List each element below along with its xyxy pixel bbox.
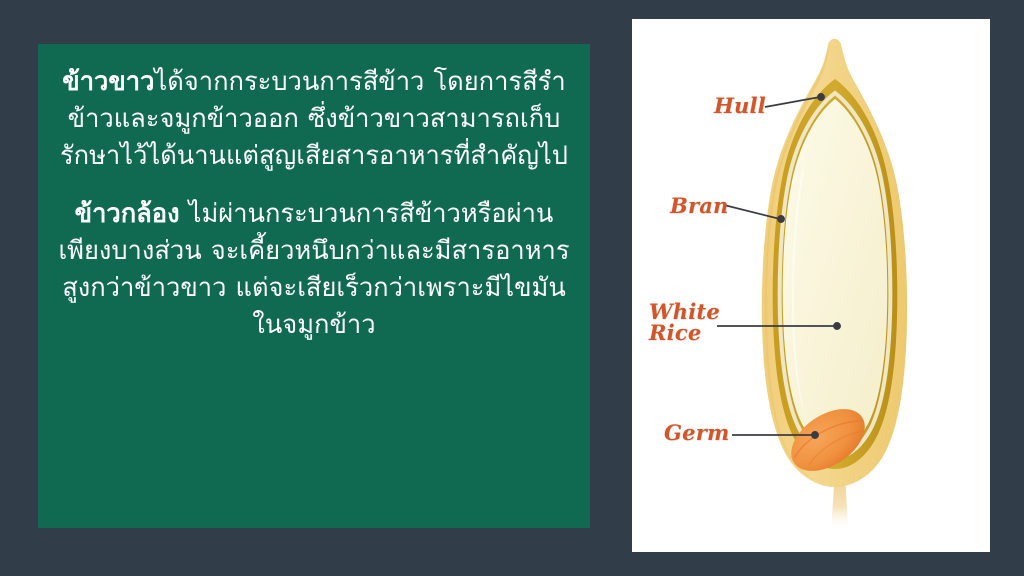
label-germ: Germ [664, 422, 729, 443]
label-white-rice: White Rice [649, 301, 720, 344]
label-hull: Hull [714, 95, 766, 116]
paragraph-brown-rice: ข้าวกล้อง ไม่ผ่านกระบวนการสีข้าวหรือผ่าน… [52, 196, 576, 345]
slide-canvas: ข้าวขาวได้จากกระบวนการสีข้าว โดยการสีรำข… [0, 0, 1024, 576]
bran-leader-dot [778, 216, 784, 222]
germ-leader-dot [812, 432, 818, 438]
thai-text-panel: ข้าวขาวได้จากกระบวนการสีข้าว โดยการสีรำข… [38, 44, 590, 528]
paragraph-white-rice: ข้าวขาวได้จากกระบวนการสีข้าว โดยการสีรำข… [52, 60, 576, 176]
hull-leader-dot [818, 94, 824, 100]
label-bran: Bran [670, 195, 729, 216]
white-rice-leader-dot [834, 323, 840, 329]
rice-grain-illustration [632, 19, 990, 552]
rice-grain-diagram-panel: Hull Bran White Rice Germ [632, 19, 990, 552]
paragraph-brown-rice-bold-lead: ข้าวกล้อง [75, 199, 180, 229]
paragraph-white-rice-bold-lead: ข้าวขาว [62, 67, 154, 97]
